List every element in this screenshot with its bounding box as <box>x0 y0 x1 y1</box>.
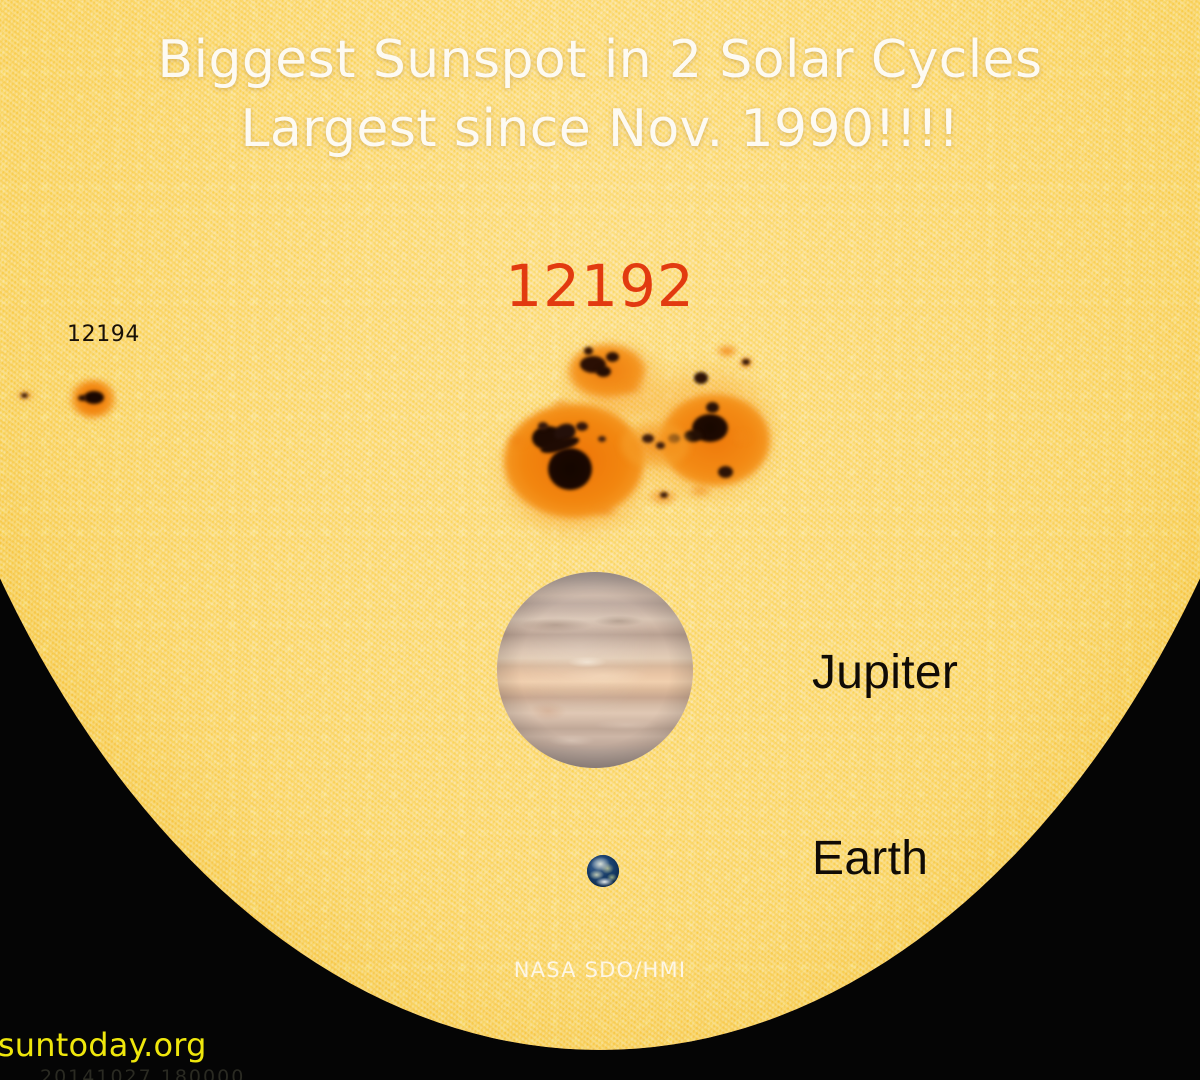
jupiter-label: Jupiter <box>812 645 958 700</box>
earth-limb-shading <box>587 855 619 887</box>
pore-n-1 <box>618 380 644 396</box>
umbra-trailing-c <box>706 402 719 413</box>
umbra-12194-main <box>84 391 104 404</box>
website-watermark: esuntoday.org <box>0 1026 207 1064</box>
penumbra-central <box>620 422 690 468</box>
solar-image-canvas: Biggest Sunspot in 2 Solar Cycles Larges… <box>0 0 1200 1080</box>
pore-ne-2 <box>716 344 738 358</box>
umbra-trailing-e <box>694 372 708 384</box>
umbra-trailing-f <box>718 466 733 478</box>
title-line-1: Biggest Sunspot in 2 Solar Cycles <box>158 30 1043 90</box>
jupiter-limb-shading <box>497 572 693 768</box>
pore-ne-1-core <box>742 359 750 365</box>
umbra-north-d <box>606 352 619 362</box>
earth-label: Earth <box>812 831 928 886</box>
pore-central-a <box>642 434 654 443</box>
pore-se-1 <box>688 484 712 498</box>
active-region-label-12192: 12192 <box>0 257 1200 315</box>
pore-w-1 <box>508 434 528 448</box>
pore-s-1-core <box>660 492 668 498</box>
jupiter-planet-image <box>497 572 693 768</box>
umbra-north-c <box>584 347 593 355</box>
sunspot-group-12194 <box>14 372 134 432</box>
umbra-12194-tail <box>78 395 87 401</box>
umbra-north-b <box>596 366 611 377</box>
umbra-main-d <box>576 422 588 431</box>
pore-e-1 <box>732 430 752 444</box>
page-title: Biggest Sunspot in 2 Solar Cycles Larges… <box>0 26 1200 163</box>
timestamp-watermark: 20141027 180000 <box>40 1066 245 1080</box>
active-region-label-12194: 12194 <box>67 322 140 347</box>
umbra-12194-small <box>21 393 28 398</box>
sunspot-group-12192 <box>480 338 780 543</box>
umbra-main-large <box>548 448 592 490</box>
pore-central-c <box>598 436 606 442</box>
title-line-2: Largest since Nov. 1990!!!! <box>0 95 1200 164</box>
pore-central-b <box>656 442 665 449</box>
pore-sw-1 <box>592 504 618 518</box>
image-credit: NASA SDO/HMI <box>0 958 1200 982</box>
umbra-main-e <box>538 422 548 430</box>
earth-planet-image <box>587 855 619 887</box>
pore-nw-1 <box>550 398 572 410</box>
